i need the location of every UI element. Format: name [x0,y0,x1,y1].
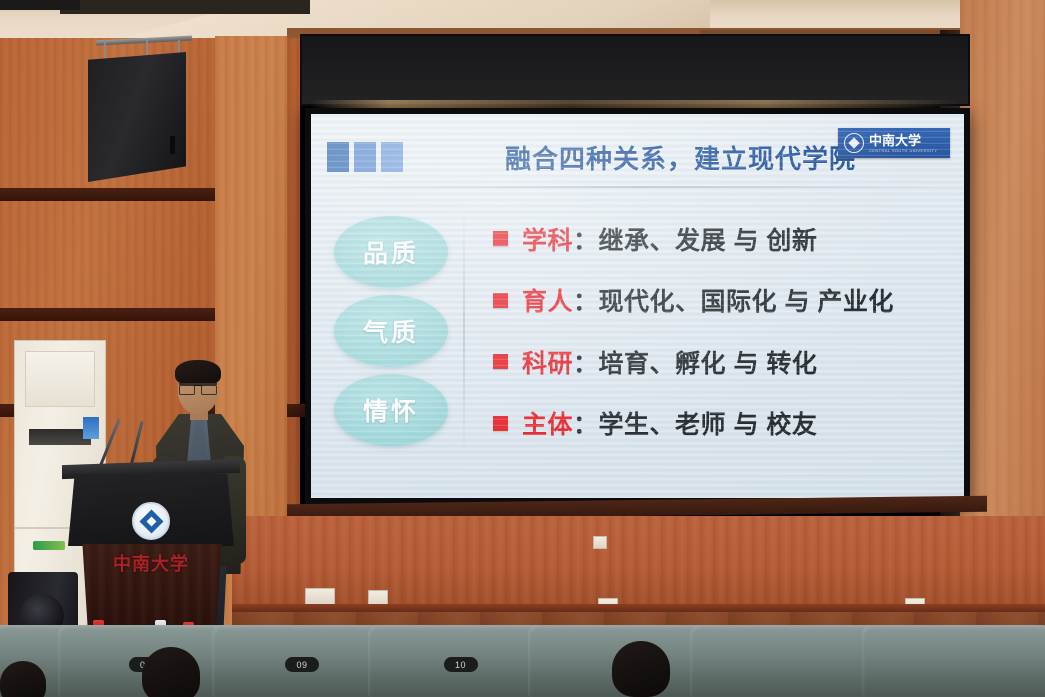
ceiling-trim [0,0,80,10]
bullet-list: 学科：继承、发展 与 创新 育人：现代化、国际化 与 产业化 科研：培育、孵化 … [465,194,964,484]
presentation-slide: 融合四种关系，建立现代学院 中南大学 CENTRAL SOUTH UNIVERS… [311,114,964,498]
audience-head [612,641,670,697]
red-square-bullet-icon [493,354,508,369]
bullet-item: 学科：继承、发展 与 创新 [493,221,944,257]
university-name: 中南大学 [869,134,937,147]
red-square-bullet-icon [493,416,508,431]
oval-badge: 品质 [334,216,448,288]
aircon-top-panel [25,351,95,407]
bullet-body: 继承、发展 与 创新 [599,227,818,255]
audience-head [0,661,46,697]
bullet-colon: ： [573,227,599,255]
oval-badge: 气质 [334,295,448,367]
university-logo: 中南大学 CENTRAL SOUTH UNIVERSITY [838,128,950,158]
aircon-display-badge [83,417,99,439]
podium-plaque-text: 中南大学 [113,554,189,574]
bullet-body: 现代化、国际化 与 产业化 [599,288,894,316]
university-name-english: CENTRAL SOUTH UNIVERSITY [869,149,937,153]
bullet-key: 科研 [522,350,573,378]
audience-head [142,647,200,697]
ceiling-speaker-icon [88,52,186,182]
bullet-body: 培育、孵化 与 转化 [599,350,818,378]
aircon-brand-logo-icon [33,541,65,550]
red-square-bullet-icon [493,231,508,246]
wall-stripe [0,188,230,201]
wall-stripe [0,308,230,321]
quality-ovals-column: 品质 气质 情怀 [311,194,461,484]
bullet-colon: ： [573,411,599,439]
header-square-1-icon [327,142,349,172]
bullet-key: 育人 [522,288,573,316]
slide-body: 品质 气质 情怀 学科：继承、发展 与 创新 [311,194,964,484]
oval-badge: 情怀 [334,374,448,446]
bullet-key: 主体 [522,411,573,439]
university-crest-icon [132,502,170,540]
header-square-decoration [327,142,403,172]
bullet-text: 主体：学生、老师 与 校友 [522,405,817,441]
right-wood-wall [960,0,1045,560]
seat-number: 09 [285,657,319,672]
aircon-vent [29,429,91,445]
header-square-2-icon [354,142,376,172]
speaker-hanging-wire [104,40,106,60]
screen-valance [300,34,970,106]
bullet-item: 育人：现代化、国际化 与 产业化 [493,282,944,318]
header-square-3-icon [381,142,403,172]
diamond-emblem-icon [844,133,864,153]
audience-seat[interactable] [862,625,1045,697]
header-divider [325,186,950,188]
glasses-icon [179,383,217,391]
bullet-item: 科研：培育、孵化 与 转化 [493,344,944,380]
projection-screen: 融合四种关系，建立现代学院 中南大学 CENTRAL SOUTH UNIVERS… [305,108,970,504]
audience-seat[interactable]: 09 [212,625,392,697]
bullet-text: 学科：继承、发展 与 创新 [522,221,817,257]
red-square-bullet-icon [493,293,508,308]
audience-seat[interactable]: 10 [368,625,553,697]
ceiling-dark-strip [60,0,310,14]
bullet-text: 育人：现代化、国际化 与 产业化 [522,282,894,318]
speaker-port [170,136,175,154]
wall-socket[interactable] [593,536,607,549]
stage-front-wall [232,516,1045,608]
lecture-hall-scene: 融合四种关系，建立现代学院 中南大学 CENTRAL SOUTH UNIVERS… [0,0,1045,697]
bullet-body: 学生、老师 与 校友 [599,411,818,439]
bullet-colon: ： [573,350,599,378]
audience-seat[interactable] [690,625,880,697]
university-logo-text: 中南大学 CENTRAL SOUTH UNIVERSITY [869,134,937,153]
seat-number: 10 [444,657,478,672]
bullet-colon: ： [573,288,599,316]
bullet-item: 主体：学生、老师 与 校友 [493,405,944,441]
bullet-text: 科研：培育、孵化 与 转化 [522,344,817,380]
bullet-key: 学科 [522,227,573,255]
